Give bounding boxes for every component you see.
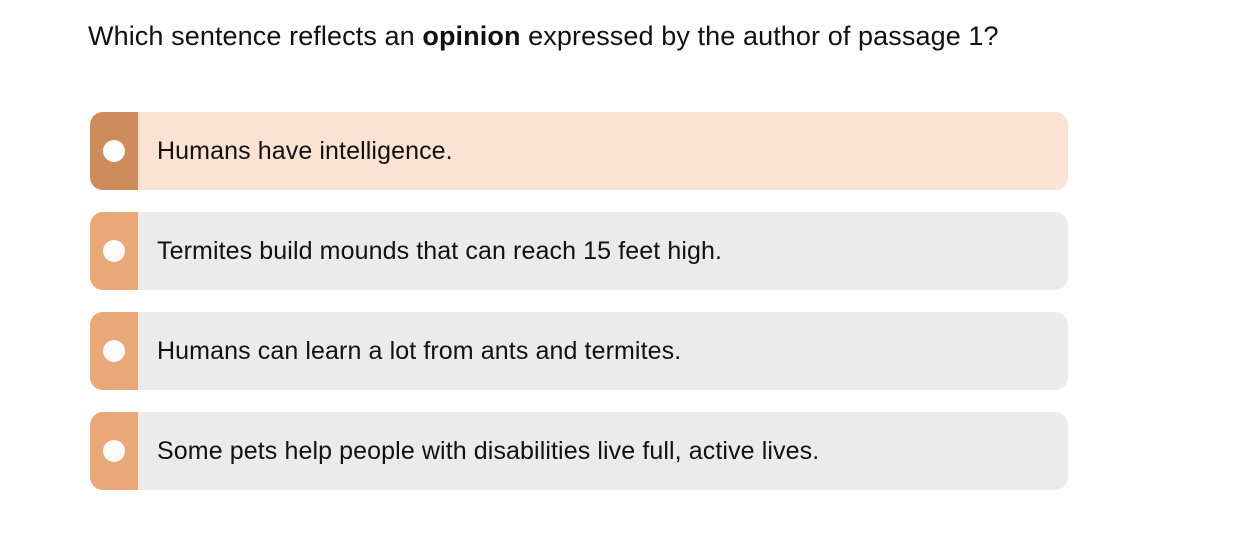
answer-option-2-body[interactable]: Termites build mounds that can reach 15 … xyxy=(138,212,1068,290)
answer-option-1-body[interactable]: Humans have intelligence. xyxy=(138,112,1068,190)
radio-filled-dot-icon[interactable] xyxy=(103,340,125,362)
question-prompt: Which sentence reflects an opinion expre… xyxy=(88,18,1228,54)
question-prompt-suffix: expressed by the author of passage 1? xyxy=(521,21,999,51)
answer-option-1[interactable]: Humans have intelligence. xyxy=(90,112,1068,190)
answer-option-2-radio-tab[interactable] xyxy=(90,212,138,290)
answer-option-4[interactable]: Some pets help people with disabilities … xyxy=(90,412,1068,490)
radio-filled-dot-icon[interactable] xyxy=(103,440,125,462)
answer-option-4-body[interactable]: Some pets help people with disabilities … xyxy=(138,412,1068,490)
question-prompt-emphasis: opinion xyxy=(422,21,520,51)
radio-filled-dot-icon[interactable] xyxy=(103,240,125,262)
answer-option-4-label: Some pets help people with disabilities … xyxy=(157,436,819,466)
quiz-question-panel: Which sentence reflects an opinion expre… xyxy=(0,0,1257,558)
answer-option-4-radio-tab[interactable] xyxy=(90,412,138,490)
answer-option-3-body[interactable]: Humans can learn a lot from ants and ter… xyxy=(138,312,1068,390)
answer-options-list: Humans have intelligence. Termites build… xyxy=(90,112,1068,490)
answer-option-3[interactable]: Humans can learn a lot from ants and ter… xyxy=(90,312,1068,390)
answer-option-3-label: Humans can learn a lot from ants and ter… xyxy=(157,336,681,366)
answer-option-1-label: Humans have intelligence. xyxy=(157,136,453,166)
answer-option-2[interactable]: Termites build mounds that can reach 15 … xyxy=(90,212,1068,290)
answer-option-3-radio-tab[interactable] xyxy=(90,312,138,390)
question-prompt-prefix: Which sentence reflects an xyxy=(88,21,422,51)
answer-option-2-label: Termites build mounds that can reach 15 … xyxy=(157,236,722,266)
radio-filled-dot-icon[interactable] xyxy=(103,140,125,162)
answer-option-1-radio-tab[interactable] xyxy=(90,112,138,190)
